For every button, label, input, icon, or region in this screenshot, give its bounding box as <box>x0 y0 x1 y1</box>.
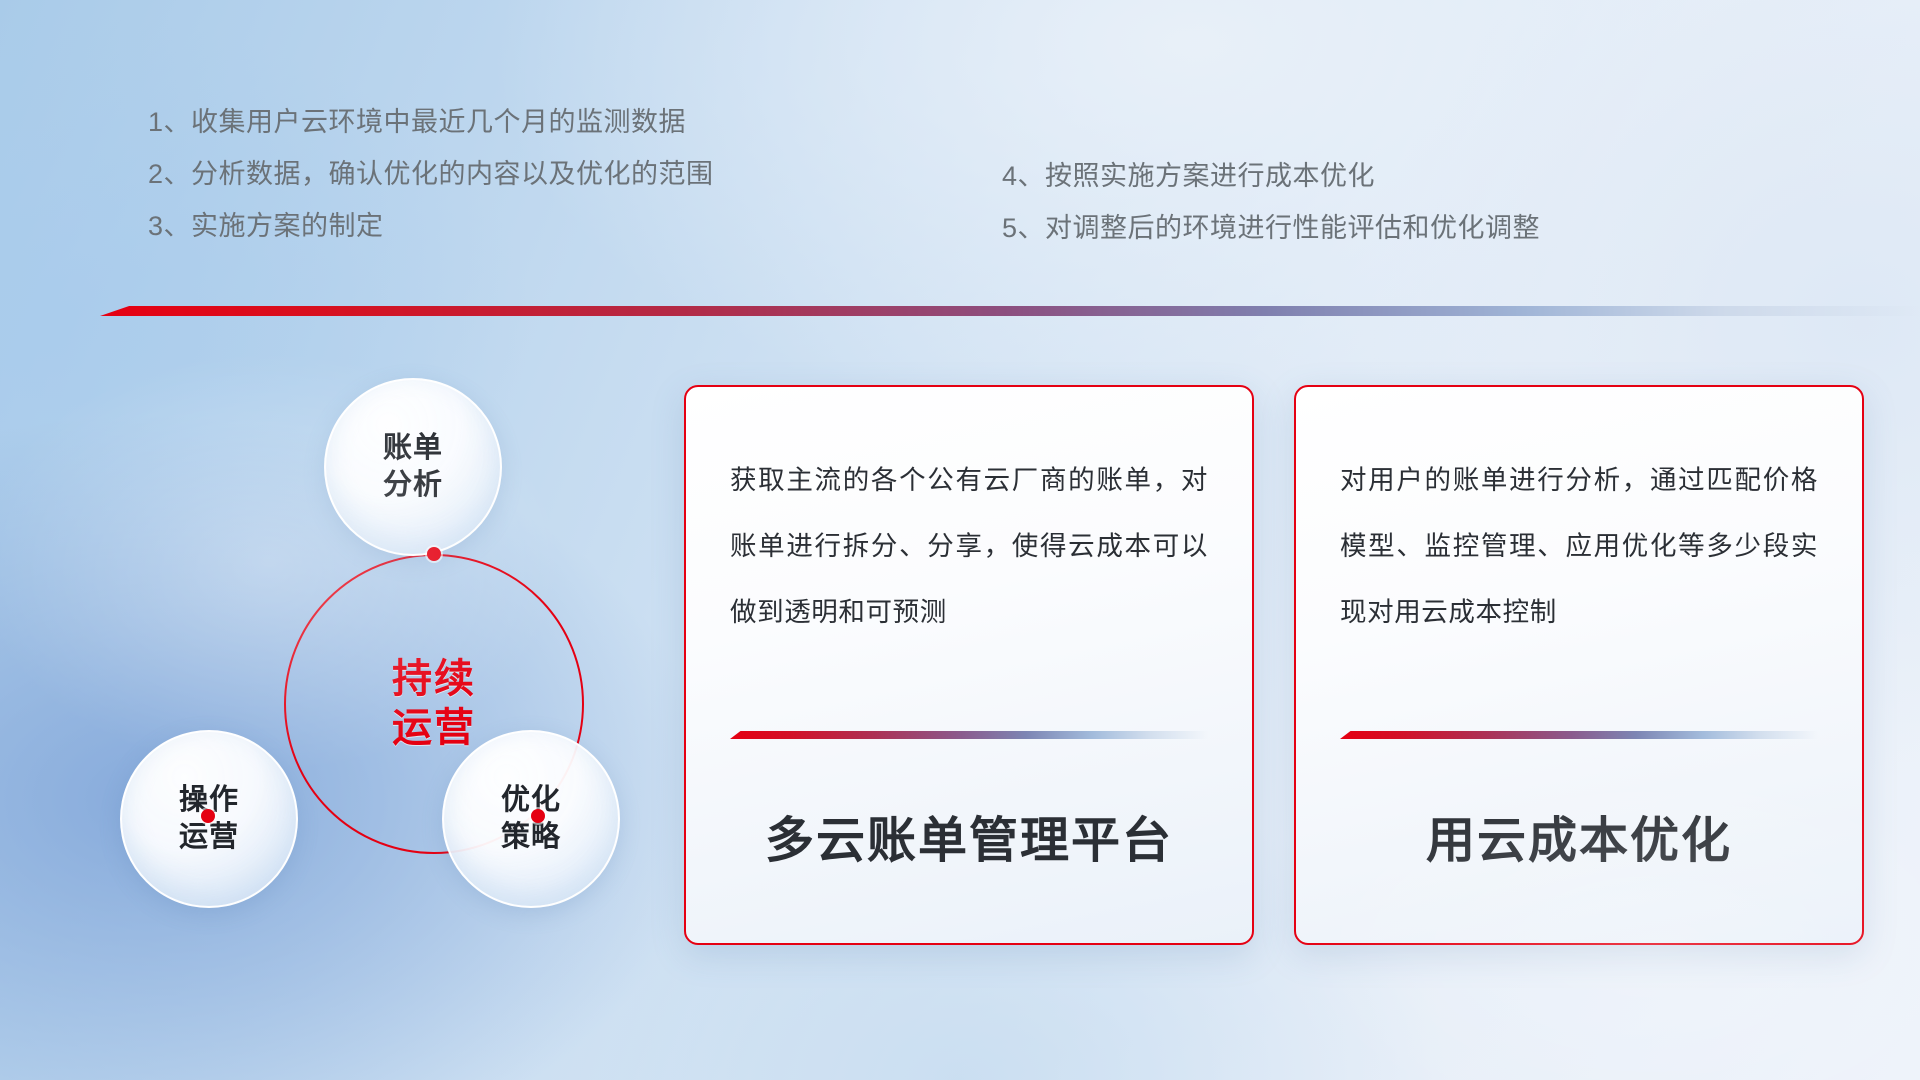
card-title: 用云成本优化 <box>1340 801 1818 872</box>
card-title: 多云账单管理平台 <box>730 801 1208 872</box>
step-item-4: 4、按照实施方案进行成本优化 <box>1002 150 1540 202</box>
center-label-line-2: 运营 <box>392 704 476 753</box>
info-card-multicloud-billing[interactable]: 获取主流的各个公有云厂商的账单，对账单进行拆分、分享，使得云成本可以做到透明和可… <box>684 385 1254 945</box>
step-item-5: 5、对调整后的环境进行性能评估和优化调整 <box>1002 202 1540 254</box>
step-item-3: 3、实施方案的制定 <box>148 200 714 252</box>
center-label-line-1: 持续 <box>392 655 476 704</box>
card-body-text: 对用户的账单进行分析，通过匹配价格模型、监控管理、应用优化等多少段实现对用云成本… <box>1340 447 1818 715</box>
node-label-line-1: 账单 <box>383 430 443 467</box>
info-card-cloud-cost-optimization[interactable]: 对用户的账单进行分析，通过匹配价格模型、监控管理、应用优化等多少段实现对用云成本… <box>1294 385 1864 945</box>
continuous-operation-diagram: 持续 运营 账单 分析 操作 运营 优化 策略 <box>96 358 636 918</box>
card-body-text: 获取主流的各个公有云厂商的账单，对账单进行拆分、分享，使得云成本可以做到透明和可… <box>730 447 1208 715</box>
node-label-line-2: 运营 <box>179 819 239 856</box>
steps-left-column: 1、收集用户云环境中最近几个月的监测数据 2、分析数据，确认优化的内容以及优化的… <box>148 96 714 252</box>
connector-dot-right-icon <box>531 809 545 823</box>
section-divider-line <box>100 306 1920 316</box>
connector-dot-top-icon <box>427 547 441 561</box>
node-label-line-2: 策略 <box>501 819 561 856</box>
diagram-node-bill-analysis[interactable]: 账单 分析 <box>324 378 502 556</box>
connector-dot-left-icon <box>201 809 215 823</box>
slide-canvas: 1、收集用户云环境中最近几个月的监测数据 2、分析数据，确认优化的内容以及优化的… <box>0 0 1920 1080</box>
card-divider-line <box>730 731 1208 739</box>
steps-right-column: 4、按照实施方案进行成本优化 5、对调整后的环境进行性能评估和优化调整 <box>1002 150 1540 254</box>
node-label-line-2: 分析 <box>383 467 443 504</box>
step-item-2: 2、分析数据，确认优化的内容以及优化的范围 <box>148 148 714 200</box>
step-item-1: 1、收集用户云环境中最近几个月的监测数据 <box>148 96 714 148</box>
card-divider-line <box>1340 731 1818 739</box>
